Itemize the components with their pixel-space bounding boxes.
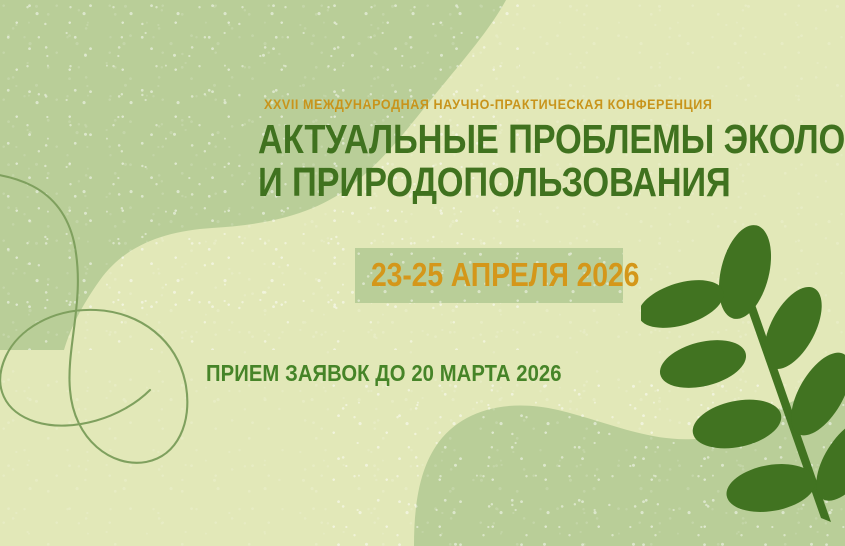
page-title: АКТУАЛЬНЫЕ ПРОБЛЕМЫ ЭКОЛОГИИ И ПРИРОДОПО… bbox=[258, 118, 845, 203]
poster-content: XXVII МЕЖДУНАРОДНАЯ НАУЧНО-ПРАКТИЧЕСКАЯ … bbox=[0, 0, 845, 546]
submission-deadline: ПРИЕМ ЗАЯВОК ДО 20 МАРТА 2026 bbox=[206, 362, 562, 385]
conference-date: 23-25 АПРЕЛЯ 2026 bbox=[371, 258, 639, 291]
page-title-line-2: И ПРИРОДОПОЛЬЗОВАНИЯ bbox=[258, 161, 845, 204]
conference-kicker: XXVII МЕЖДУНАРОДНАЯ НАУЧНО-ПРАКТИЧЕСКАЯ … bbox=[264, 98, 712, 112]
page-title-line-1: АКТУАЛЬНЫЕ ПРОБЛЕМЫ ЭКОЛОГИИ bbox=[258, 118, 845, 161]
conference-poster: XXVII МЕЖДУНАРОДНАЯ НАУЧНО-ПРАКТИЧЕСКАЯ … bbox=[0, 0, 845, 546]
